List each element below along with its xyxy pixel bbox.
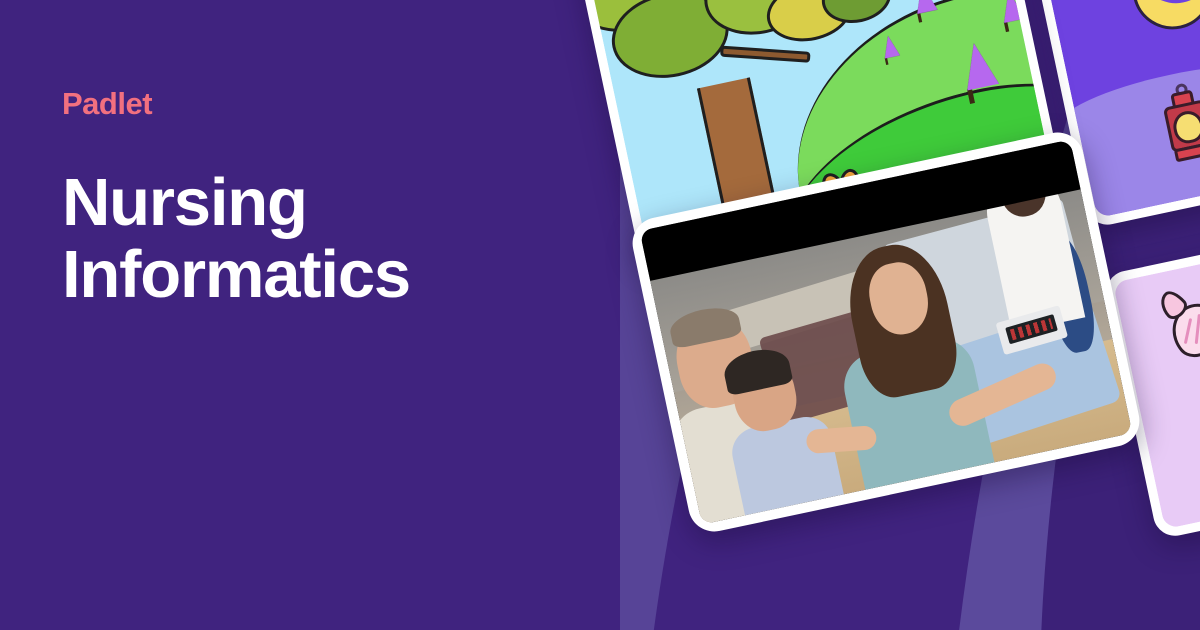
crescent-moon-icon — [1125, 0, 1200, 37]
padlet-logo[interactable]: Padlet — [62, 88, 410, 119]
page-title-line-2: Informatics — [62, 237, 410, 312]
vitals-monitor-screen — [1005, 314, 1058, 344]
page-title: Nursing Informatics — [62, 167, 410, 312]
vitals-monitor-digits — [1010, 318, 1054, 340]
padlet-share-banner: Cartoon drawing of a large leafy tree on… — [0, 0, 1200, 630]
page-title-line-1: Nursing — [62, 165, 307, 240]
person-observer-arm — [805, 425, 877, 454]
seashell-icon — [1156, 281, 1200, 362]
title-block: Padlet Nursing Informatics — [62, 88, 410, 312]
tree-branch-shape — [720, 46, 811, 63]
